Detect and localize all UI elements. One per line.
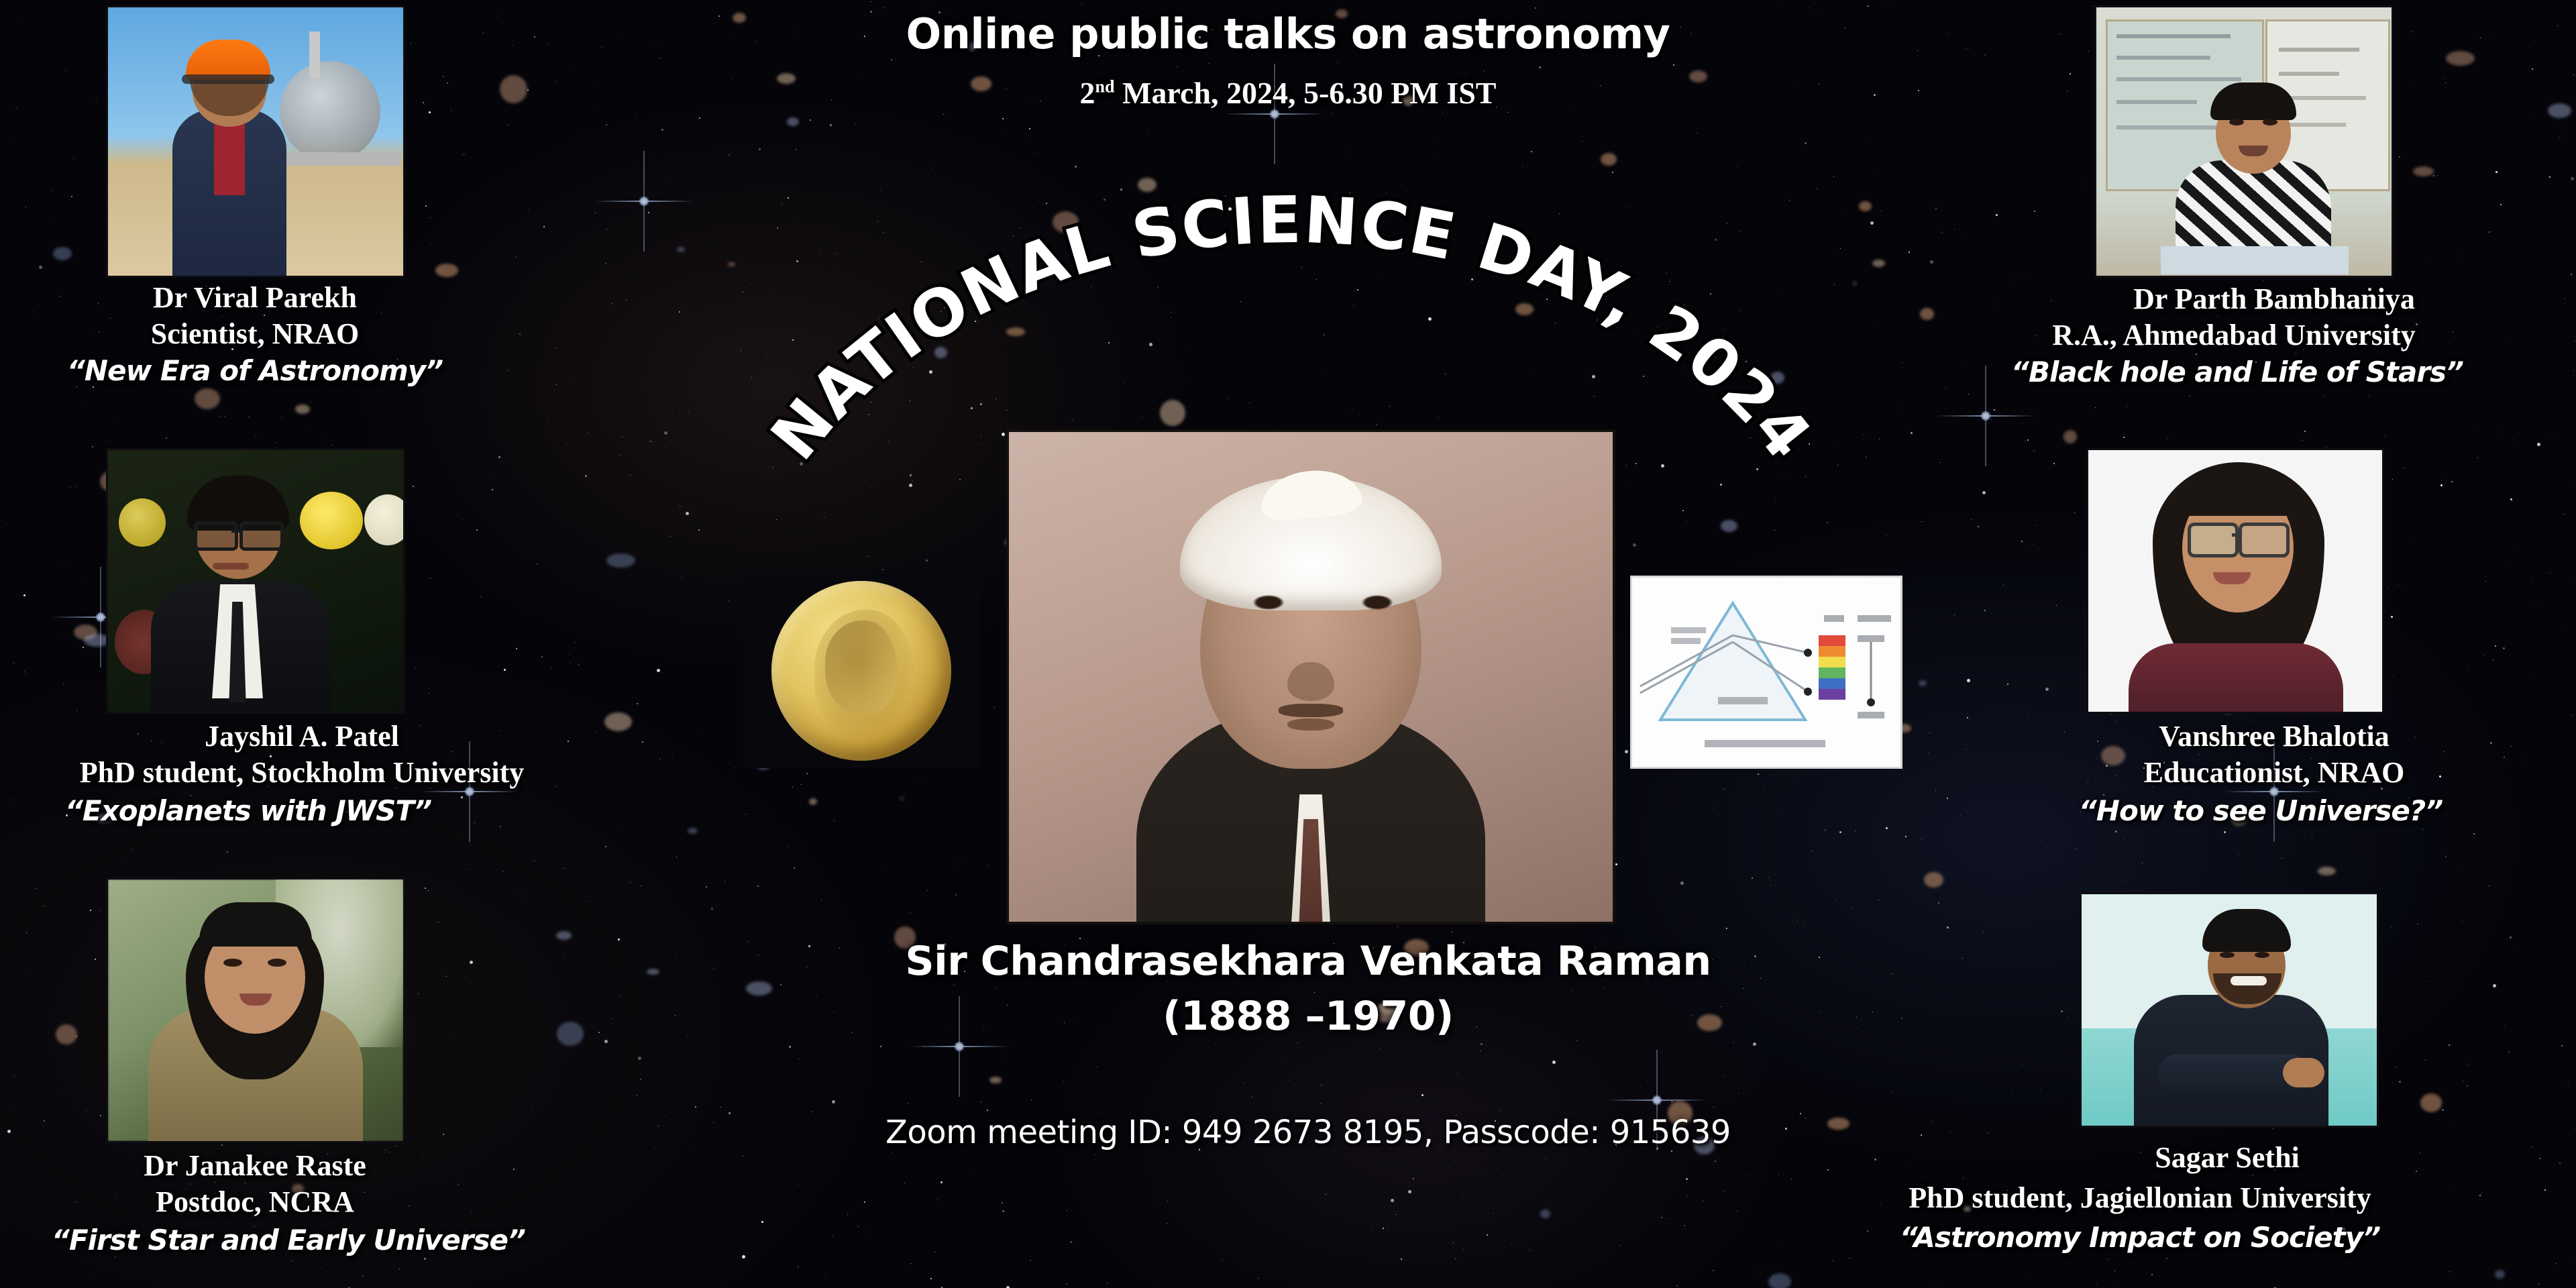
speaker-affiliation: Educationist, NRAO [1972, 755, 2576, 790]
speaker-talk-title: “Astronomy Impact on Society” [1704, 1221, 2576, 1254]
speaker-affiliation: Scientist, NRAO [0, 317, 510, 352]
speaker-affiliation: PhD student, Stockholm University [0, 755, 604, 790]
speaker-name: Sagar Sethi [1959, 1140, 2495, 1175]
speaker-talk-title: “How to see Universe?” [1945, 794, 2576, 828]
photo-jayshil-patel [106, 448, 405, 714]
speaker-name: Dr Janakee Raste [0, 1148, 510, 1183]
photo-vanshree-bhalotia [2086, 448, 2384, 714]
raman-portrait [1006, 429, 1615, 924]
speaker-talk-title: “Exoplanets with JWST” [0, 794, 496, 828]
prism-diagram [1630, 576, 1902, 769]
zoom-meeting-info: Zoom meeting ID: 949 2673 8195, Passcode… [604, 1114, 2012, 1151]
speaker-affiliation: R.A., Ahmedabad University [1892, 318, 2576, 353]
speaker-talk-title: “Black hole and Life of Stars” [1898, 356, 2576, 389]
honoree-years: (1888 –1970) [724, 993, 1892, 1040]
photo-parth-bambhaniya [2094, 5, 2394, 278]
speaker-name: Jayshil A. Patel [0, 719, 604, 754]
photo-sagar-sethi [2080, 892, 2379, 1128]
nobel-medal-icon [743, 574, 979, 768]
speaker-talk-title: “New Era of Astronomy” [0, 354, 510, 388]
photo-janakee-raste [106, 877, 405, 1143]
speaker-name: Vanshree Bhalotia [1972, 719, 2576, 754]
speaker-affiliation: PhD student, Jagiellonian University [1704, 1181, 2576, 1216]
honoree-name: Sir Chandrasekhara Venkata Raman [724, 938, 1892, 985]
speaker-name: Dr Parth Bambhaniya [1972, 282, 2576, 317]
medal-disc [771, 581, 951, 761]
speaker-affiliation: Postdoc, NCRA [0, 1185, 510, 1220]
speaker-name: Dr Viral Parekh [0, 280, 510, 315]
speaker-talk-title: “First Star and Early Universe” [0, 1224, 577, 1257]
photo-viral-parekh [106, 5, 405, 278]
medal-profile-highlight [825, 621, 897, 714]
poster-canvas: Online public talks on astronomy 2nd Mar… [0, 0, 2576, 1288]
